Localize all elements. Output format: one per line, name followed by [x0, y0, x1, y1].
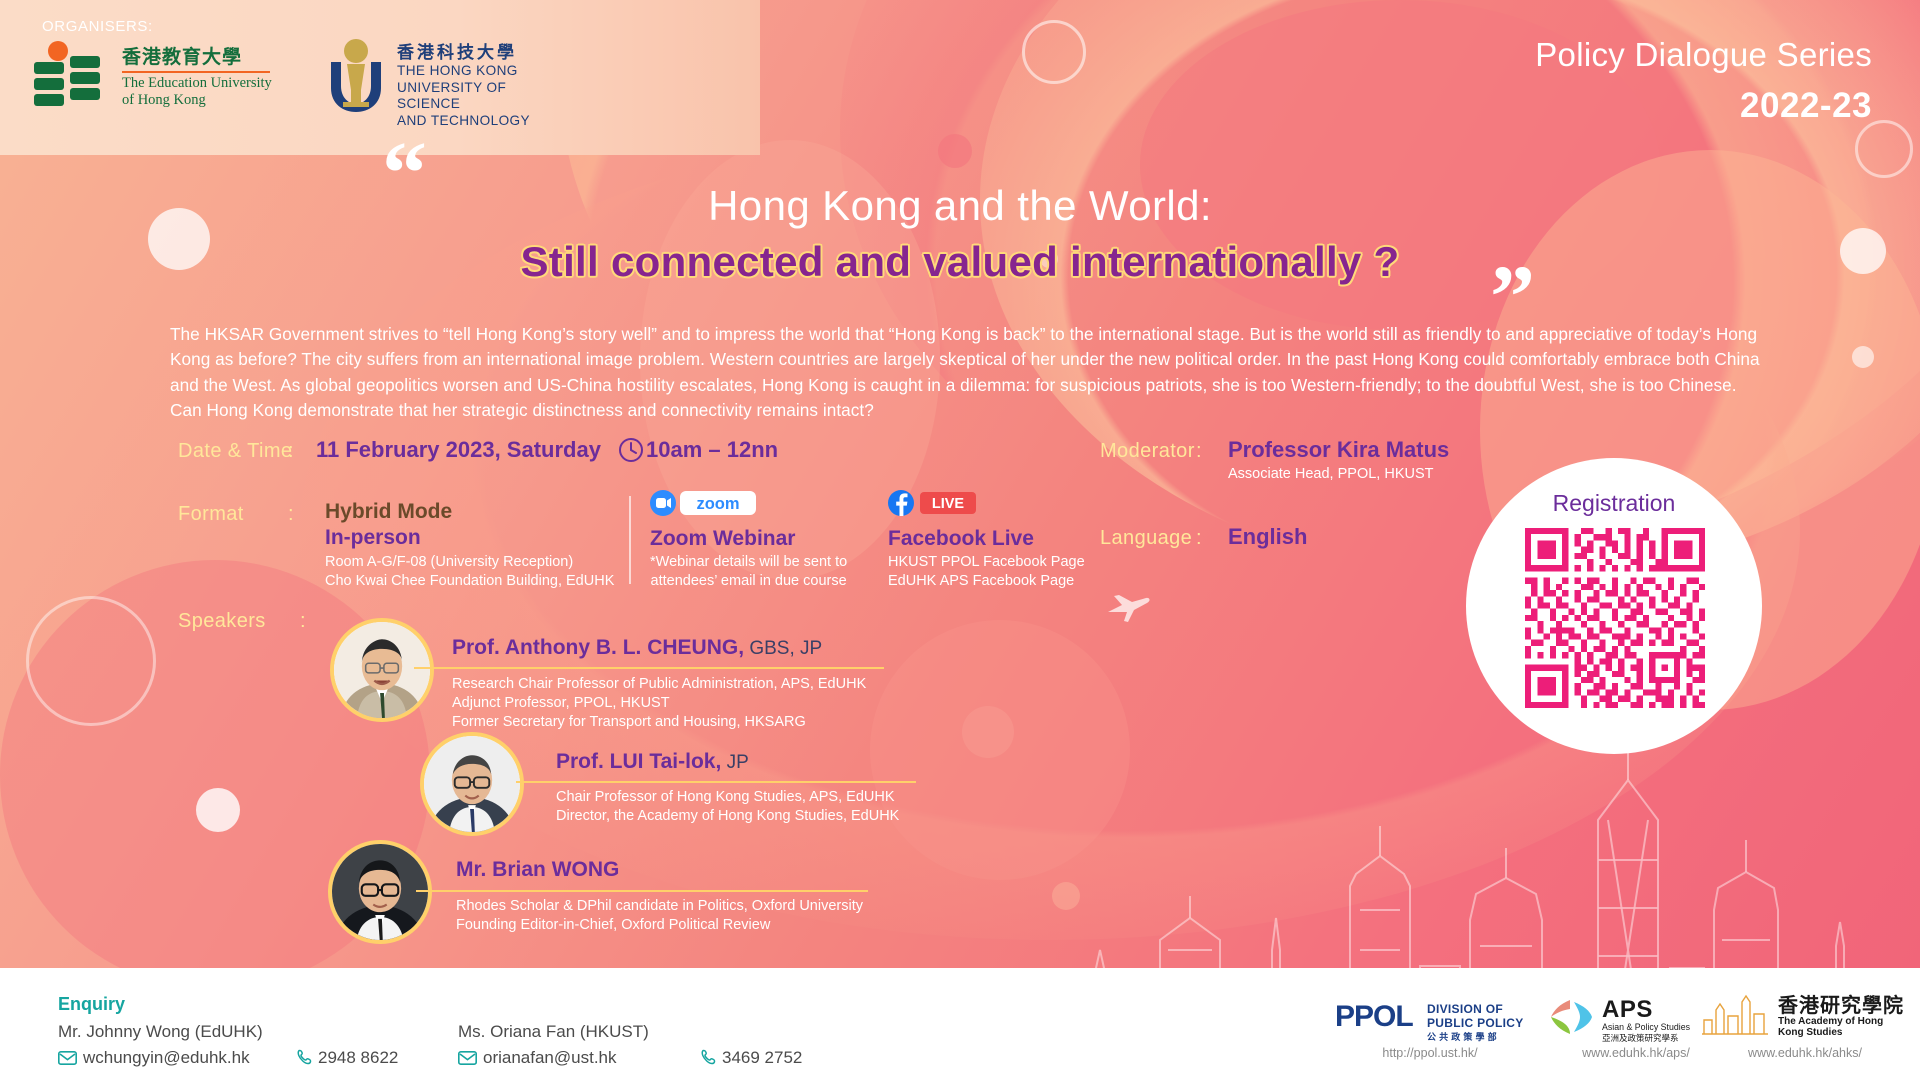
ahks-logo-url[interactable]: www.eduhk.hk/ahks/ [1700, 1046, 1910, 1060]
zoom-webinar-block[interactable]: zoom Zoom Webinar *Webinar details will … [650, 490, 847, 590]
facebook-page-2: EdUHK APS Facebook Page [888, 572, 1085, 591]
speakers-colon: : [300, 610, 306, 633]
background-ring-2 [26, 596, 156, 726]
language-label: Language [1100, 527, 1192, 550]
speaker-2-description: Chair Professor of Hong Kong Studies, AP… [556, 788, 899, 826]
speaker-photo-brian-wong [328, 840, 432, 944]
format-mode: Hybrid Mode [325, 500, 452, 524]
speaker-2-portrait [424, 736, 520, 832]
background-dot-3 [938, 134, 972, 168]
series-year: 2022-23 [1740, 86, 1872, 126]
enquiry-contact-2-email[interactable]: orianafan@ust.hk [458, 1048, 617, 1068]
date-value: 11 February 2023, Saturday [316, 437, 601, 463]
enquiry-contact-2-name: Ms. Oriana Fan (HKUST) [458, 1022, 649, 1042]
speaker-1-name-main: Prof. Anthony B. L. CHEUNG, [452, 636, 744, 659]
speaker-2-name-main: Prof. LUI Tai-lok, [556, 750, 721, 773]
speaker-photo-anthony-cheung [330, 618, 434, 722]
speaker-3-desc-line2: Founding Editor-in-Chief, Oxford Politic… [456, 916, 863, 935]
format-label: Format [178, 503, 244, 526]
language-colon: : [1196, 527, 1202, 550]
moderator-name: Professor Kira Matus [1228, 437, 1449, 463]
speaker-3-description: Rhodes Scholar & DPhil candidate in Poli… [456, 897, 863, 935]
zoom-note-line1: *Webinar details will be sent to [650, 553, 847, 572]
enquiry-contact-1-email-text: wchungyin@eduhk.hk [83, 1048, 250, 1067]
background-dot-7 [1852, 346, 1874, 368]
enquiry-contact-2-phone-text: 3469 2752 [722, 1048, 802, 1067]
background-ring-1 [1022, 20, 1086, 84]
facebook-live-badge: LIVE [932, 496, 965, 512]
event-description: The HKSAR Government strives to “tell Ho… [170, 322, 1765, 423]
eduhk-logo-en-line1: The Education University [122, 75, 272, 92]
enquiry-title: Enquiry [58, 994, 125, 1015]
format-colon: : [288, 503, 294, 526]
ahks-logo[interactable]: 香港研究學院 The Academy of Hong Kong Studies [1700, 994, 1910, 1038]
event-title-line1: Hong Kong and the World: [0, 182, 1920, 230]
hkust-logo-chinese: 香港科技大學 [397, 38, 565, 63]
organisers-label: ORGANISERS: [42, 18, 153, 35]
background-dot-2 [196, 788, 240, 832]
speaker-1-name: Prof. Anthony B. L. CHEUNG, GBS, JP [452, 636, 822, 660]
eduhk-logo-chinese: 香港教育大學 [122, 42, 272, 69]
facebook-live-title: Facebook Live [888, 527, 1085, 551]
zoom-webinar-title: Zoom Webinar [650, 527, 847, 551]
registration-label: Registration [1466, 490, 1762, 517]
speaker-1-rule [414, 667, 884, 669]
speaker-3-portrait [332, 844, 428, 940]
hkust-logo-mark [325, 38, 387, 114]
speaker-2-desc-line1: Chair Professor of Hong Kong Studies, AP… [556, 788, 899, 807]
aps-logo-sub1: Asian & Policy Studies [1602, 1022, 1690, 1032]
speakers-label: Speakers [178, 610, 266, 633]
date-time-colon: : [288, 440, 294, 463]
venue-address-line2: Cho Kwai Chee Foundation Building, EdUHK [325, 572, 614, 591]
date-time-label: Date & Time [178, 440, 292, 463]
eduhk-logo-mark [30, 40, 114, 110]
format-in-person: In-person [325, 526, 421, 550]
enquiry-contact-1-name: Mr. Johnny Wong (EdUHK) [58, 1022, 263, 1042]
ppol-logo-chinese: 公 共 政 策 學 部 [1427, 1030, 1524, 1043]
svg-text:zoom: zoom [696, 495, 739, 513]
speaker-2-rule [516, 781, 916, 783]
hkust-logo-en-line2: UNIVERSITY OF SCIENCE [397, 80, 565, 113]
envelope-icon [58, 1051, 77, 1065]
speaker-1-description: Research Chair Professor of Public Admin… [452, 675, 866, 732]
ahks-logo-chinese: 香港研究學院 [1778, 994, 1910, 1016]
envelope-icon [458, 1051, 477, 1065]
enquiry-contact-1-email[interactable]: wchungyin@eduhk.hk [58, 1048, 250, 1068]
enquiry-contact-2-phone[interactable]: 3469 2752 [700, 1048, 802, 1068]
venue-address: Room A-G/F-08 (University Reception) Cho… [325, 553, 614, 590]
enquiry-contact-2-email-text: orianafan@ust.hk [483, 1048, 617, 1067]
enquiry-contact-1-phone-text: 2948 8622 [318, 1048, 398, 1067]
language-value: English [1228, 524, 1307, 550]
speaker-1-desc-line3: Former Secretary for Transport and Housi… [452, 713, 866, 732]
zoom-logo-icon: zoom [650, 490, 758, 516]
speaker-2-desc-line2: Director, the Academy of Hong Kong Studi… [556, 807, 899, 826]
speaker-2-name-suffix: JP [721, 752, 748, 773]
qr-code-icon[interactable] [1525, 528, 1705, 708]
background-ring-3 [1855, 120, 1913, 178]
speaker-3-desc-line1: Rhodes Scholar & DPhil candidate in Poli… [456, 897, 863, 916]
moderator-label: Moderator [1100, 440, 1195, 463]
aps-logo-chinese: 亞洲及政策研究學系 [1602, 1032, 1690, 1044]
speaker-1-desc-line1: Research Chair Professor of Public Admin… [452, 675, 866, 694]
speaker-3-name-main: Mr. Brian WONG [456, 858, 619, 881]
ahks-logo-sub1: The Academy of Hong Kong Studies [1778, 1016, 1910, 1038]
facebook-pages: HKUST PPOL Facebook Page EdUHK APS Faceb… [888, 553, 1085, 590]
clock-icon [618, 437, 644, 463]
ppol-logo-sub2: PUBLIC POLICY [1427, 1016, 1524, 1030]
ppol-logo-url[interactable]: http://ppol.ust.hk/ [1335, 1046, 1525, 1060]
speaker-photo-lui-tai-lok [420, 732, 524, 836]
aps-logo-mark [1548, 998, 1594, 1036]
hkust-logo: 香港科技大學 THE HONG KONG UNIVERSITY OF SCIEN… [325, 38, 565, 116]
ppol-logo[interactable]: PPOL DIVISION OF PUBLIC POLICY 公 共 政 策 學… [1335, 1000, 1525, 1034]
facebook-live-block[interactable]: LIVE Facebook Live HKUST PPOL Facebook P… [888, 490, 1085, 590]
format-divider [629, 496, 631, 584]
event-title-line2: Still connected and valued international… [0, 238, 1920, 286]
eduhk-logo: 香港教育大學 The Education University of Hong … [30, 40, 290, 110]
aps-logo-url[interactable]: www.eduhk.hk/aps/ [1548, 1046, 1724, 1060]
speaker-1-name-suffix: GBS, JP [744, 638, 822, 659]
moderator-role: Associate Head, PPOL, HKUST [1228, 466, 1434, 482]
zoom-webinar-note: *Webinar details will be sent to attende… [650, 553, 847, 590]
aps-logo[interactable]: APS Asian & Policy Studies 亞洲及政策研究學系 [1548, 998, 1724, 1038]
poster-canvas: ORGANISERS: 香港教育大學 The Education Univers… [0, 0, 1920, 1080]
aps-logo-wordmark: APS [1602, 998, 1690, 1022]
speaker-1-desc-line2: Adjunct Professor, PPOL, HKUST [452, 694, 866, 713]
speaker-2-name: Prof. LUI Tai-lok, JP [556, 750, 749, 774]
airplane-icon [1106, 592, 1152, 624]
venue-address-line1: Room A-G/F-08 (University Reception) [325, 553, 614, 572]
enquiry-contact-1-phone[interactable]: 2948 8622 [296, 1048, 398, 1068]
speaker-3-name: Mr. Brian WONG [456, 858, 619, 882]
phone-icon [700, 1049, 716, 1065]
zoom-note-line2: attendees’ email in due course [650, 572, 847, 591]
ppol-logo-sub1: DIVISION OF [1427, 1002, 1524, 1016]
speaker-3-rule [416, 890, 868, 892]
hkust-logo-en-line1: THE HONG KONG [397, 63, 565, 80]
series-title: Policy Dialogue Series [1535, 36, 1872, 74]
eduhk-logo-en-line2: of Hong Kong [122, 92, 272, 109]
facebook-logo-icon: LIVE [888, 490, 988, 516]
time-value: 10am – 12nn [646, 437, 778, 463]
ahks-logo-skyline-mark [1700, 994, 1770, 1036]
background-dot-4 [962, 706, 1014, 758]
ppol-logo-wordmark: PPOL [1335, 1000, 1413, 1034]
moderator-colon: : [1196, 440, 1202, 463]
speaker-1-portrait [334, 622, 430, 718]
facebook-page-1: HKUST PPOL Facebook Page [888, 553, 1085, 572]
phone-icon [296, 1049, 312, 1065]
